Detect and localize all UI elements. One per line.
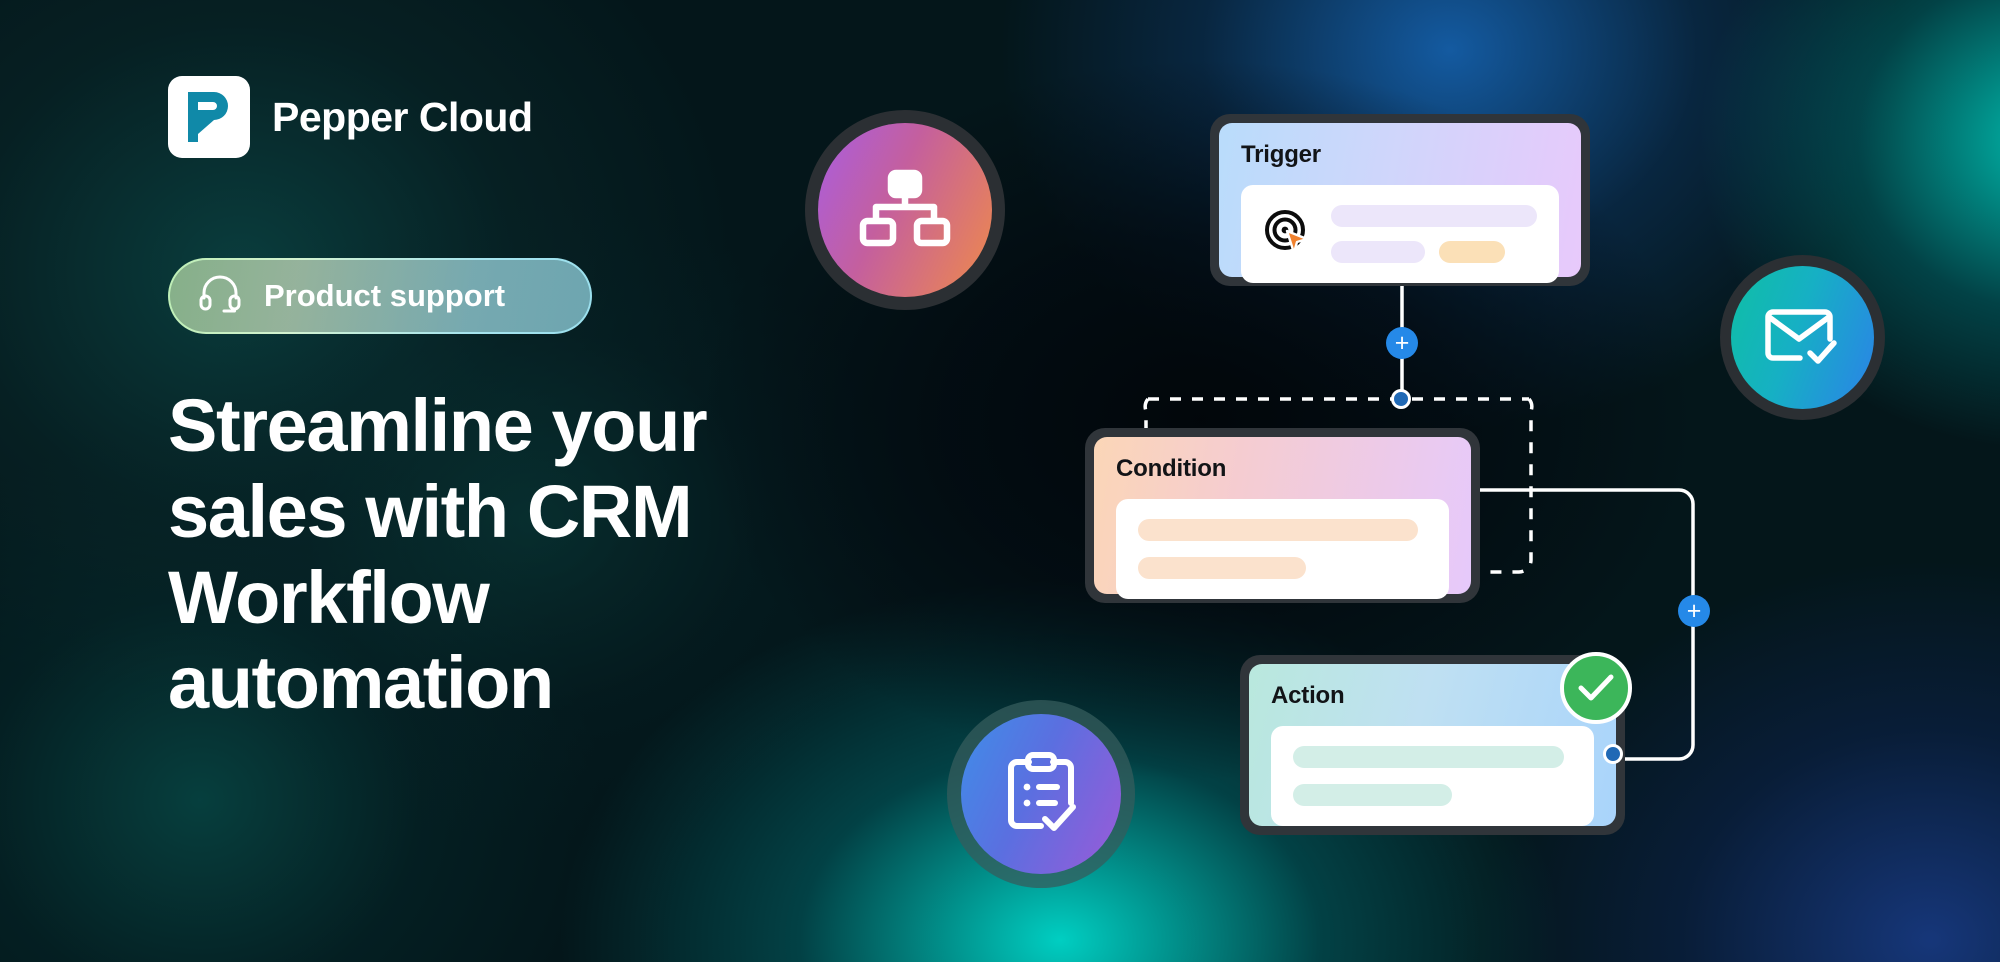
placeholder-bar-row [1331,241,1537,263]
trigger-placeholder-bars [1331,205,1537,263]
add-step-after-trigger-button[interactable]: + [1386,327,1418,359]
add-step-after-condition-button[interactable]: + [1678,595,1710,627]
plus-icon: + [1687,599,1702,624]
hero-banner: Pepper Cloud Product support Streamline … [0,0,2000,962]
workflow-node-trigger[interactable]: Trigger [1210,114,1590,286]
workflow-connectors [0,0,2000,962]
action-node-panel [1271,726,1594,826]
target-cursor-icon [1263,208,1311,261]
trigger-node-title: Trigger [1241,141,1559,169]
workflow-node-condition[interactable]: Condition [1085,428,1480,603]
action-output-dot[interactable] [1603,744,1623,764]
placeholder-bar [1293,746,1564,768]
condition-node-title: Condition [1116,455,1449,483]
placeholder-bar [1138,557,1306,579]
condition-node-body: Condition [1094,437,1471,594]
connector-junction-dot[interactable] [1391,389,1411,409]
plus-icon: + [1395,331,1410,356]
trigger-node-body: Trigger [1219,123,1581,277]
placeholder-bar [1293,784,1452,806]
placeholder-bar [1331,205,1537,227]
check-circle-icon [1560,652,1632,724]
action-node-title: Action [1271,682,1594,710]
placeholder-bar [1331,241,1425,263]
placeholder-bar [1138,519,1418,541]
trigger-node-panel [1241,185,1559,283]
condition-node-panel [1116,499,1449,599]
placeholder-bar-accent [1439,241,1505,263]
